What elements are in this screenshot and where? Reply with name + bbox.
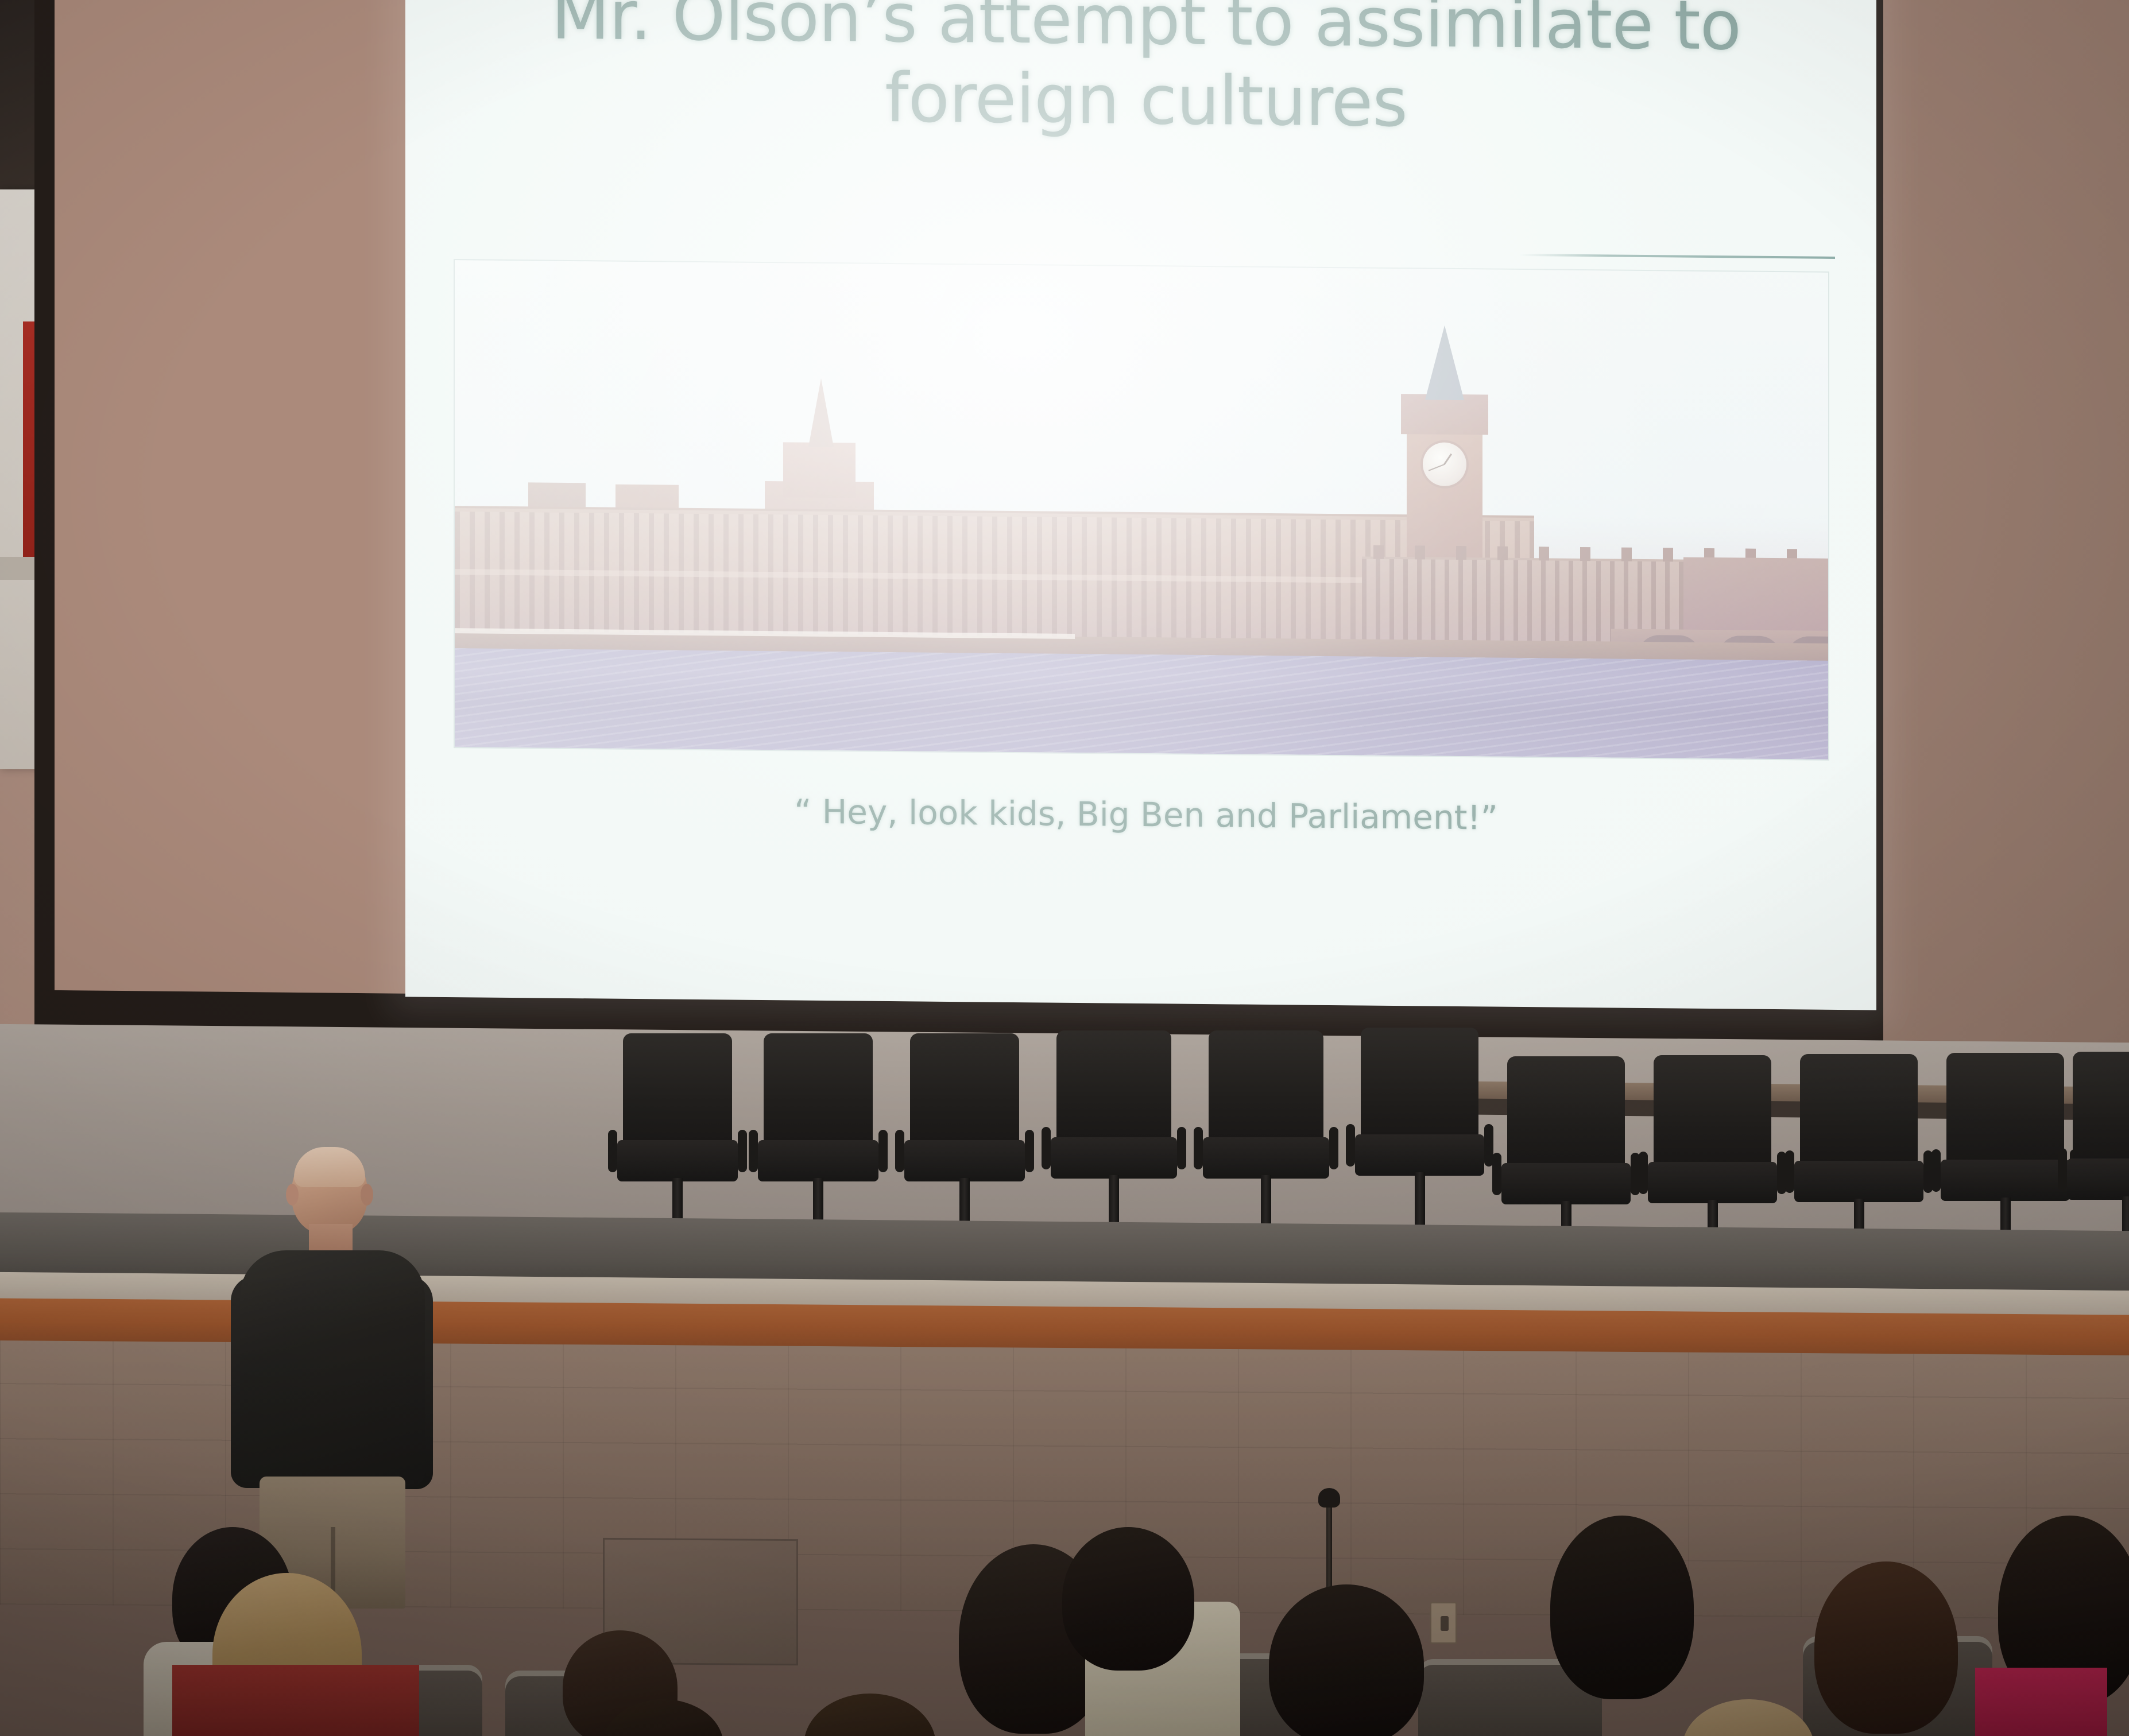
audience-head: [1062, 1527, 1194, 1671]
photo-water-ripples: [455, 648, 1828, 759]
chair-seat: [758, 1140, 878, 1181]
photo-crenellation: [1621, 548, 1632, 561]
microphone-head: [1318, 1488, 1340, 1508]
slide-caption: “ Hey, look kids, Big Ben and Parliament…: [474, 789, 1818, 840]
presenter-ear: [286, 1184, 299, 1206]
photo-crenellation: [1539, 547, 1549, 560]
chair-seat: [1794, 1161, 1923, 1202]
photo-crenellation: [1415, 545, 1425, 559]
chair-seat: [2067, 1158, 2129, 1200]
chair-seat: [1051, 1137, 1177, 1179]
chair-armrest: [1329, 1127, 1338, 1169]
chair-back: [1361, 1028, 1478, 1142]
chair-back: [1654, 1055, 1771, 1170]
audience-head: [1814, 1561, 1958, 1734]
chair-armrest: [1639, 1152, 1648, 1194]
chair-seat: [904, 1140, 1025, 1181]
chair-armrest: [1346, 1124, 1355, 1167]
photo-central-spire-point: [808, 378, 834, 447]
chair-back: [1056, 1030, 1171, 1145]
presenter-scalp: [294, 1147, 365, 1187]
chair-seat: [1941, 1160, 2070, 1201]
chair-armrest: [1931, 1149, 1941, 1192]
photo-crenellation: [1456, 546, 1466, 560]
chair-back: [764, 1033, 873, 1148]
chair-armrest: [1785, 1150, 1794, 1193]
chair-seat: [1203, 1137, 1329, 1179]
chair-armrest: [878, 1130, 888, 1172]
chair-armrest: [749, 1130, 758, 1172]
chair-seat: [1355, 1134, 1484, 1176]
chair-armrest: [1025, 1130, 1034, 1172]
photo-crenellation: [1373, 545, 1384, 559]
audience-head: [1269, 1584, 1424, 1736]
chair-back: [623, 1033, 732, 1148]
presenter-ear: [361, 1184, 373, 1206]
chair-armrest: [1492, 1153, 1501, 1195]
chair-back: [1507, 1056, 1625, 1171]
slide-photo-parliament: [455, 260, 1828, 759]
chair-back: [1800, 1054, 1918, 1169]
photo-crenellation: [1580, 547, 1590, 561]
photo-crenellation: [1497, 547, 1508, 560]
slide-divider-rule: [1519, 254, 1835, 259]
audience-head: [1682, 1699, 1814, 1736]
audience-torso: [172, 1665, 419, 1736]
presenter-torso-sweater: [240, 1250, 425, 1487]
chair-armrest: [738, 1130, 747, 1172]
photo-far-right-buildings: [1683, 557, 1828, 639]
slide-title: Mr. Olson’s attempt to assimilate to for…: [474, 0, 1818, 146]
chair-seat: [1648, 1162, 1777, 1203]
photo-big-ben-spire: [1425, 325, 1464, 400]
chair-armrest: [1194, 1127, 1203, 1169]
chair-armrest: [1042, 1127, 1051, 1169]
audience-head: [1550, 1516, 1694, 1699]
chair-back: [1946, 1053, 2064, 1168]
chair-armrest: [608, 1130, 617, 1172]
chair-seat: [1501, 1163, 1631, 1204]
chair-back: [910, 1033, 1019, 1148]
chair-seat: [617, 1140, 738, 1181]
chair-armrest: [1177, 1127, 1186, 1169]
chair-back: [2073, 1052, 2129, 1167]
room-scene: Mr. Olson’s attempt to assimilate to for…: [0, 0, 2129, 1736]
wall-outlet: [1430, 1602, 1457, 1644]
audience-torso: [1975, 1668, 2107, 1736]
photo-central-spire-mid: [783, 442, 856, 498]
slide-title-line-2: foreign cultures: [474, 55, 1818, 146]
projected-slide: Mr. Olson’s attempt to assimilate to for…: [405, 0, 1876, 1010]
chair-armrest: [895, 1130, 904, 1172]
photo-big-ben-belfry: [1401, 394, 1488, 435]
photo-crenellation: [1663, 548, 1673, 561]
audience-head: [804, 1694, 936, 1736]
chair-back: [1209, 1030, 1323, 1145]
chair-armrest: [2058, 1148, 2067, 1191]
